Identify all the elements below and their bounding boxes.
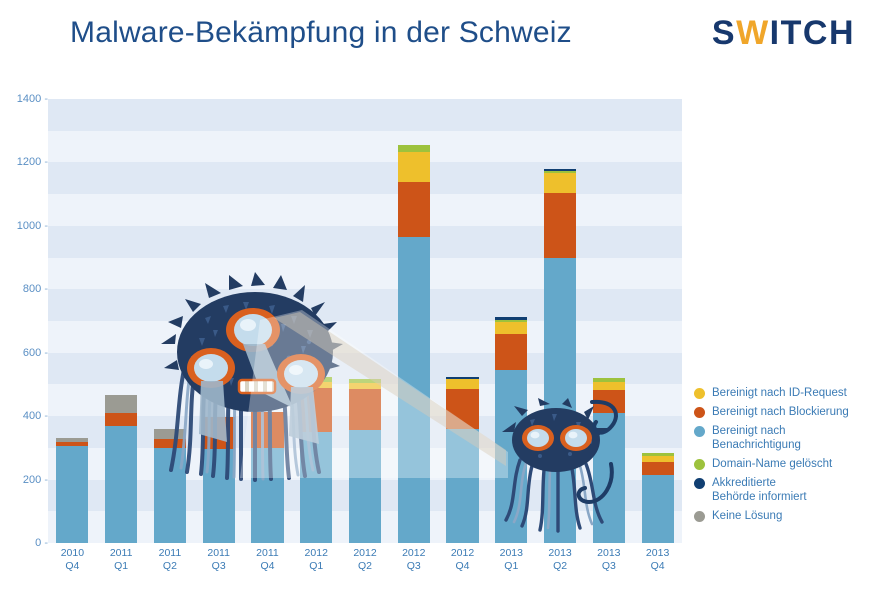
logo-text-v: W [736,14,770,53]
y-axis-tick: 600 - [2,347,48,359]
x-axis-label: 2012Q4 [438,547,487,573]
logo-text-suffix: ITCH [770,14,855,53]
bar-segment [642,475,674,543]
bar-segment [495,370,527,543]
legend-label: Akkreditierte Behörde informiert [712,476,807,504]
legend-item-3[interactable]: Domain-Name gelöscht [694,457,872,471]
y-axis-tick: 0 - [2,537,48,549]
tentacle-curl-upper [588,398,628,442]
legend-item-1[interactable]: Bereinigt nach Blockierung [694,405,872,419]
bar-segment [300,388,332,432]
switch-logo: SWITCH [712,14,855,53]
chart-legend: Bereinigt nach ID-RequestBereinigt nach … [694,386,872,528]
bar-segment [495,334,527,370]
bar-2013-q2[interactable] [544,99,576,543]
bar-segment [446,429,478,543]
bar-segment [349,383,381,389]
legend-label: Bereinigt nach Benachrichtigung [712,424,801,452]
x-axis-label: 2013Q2 [536,547,585,573]
bar-segment [544,171,576,174]
bar-segment [349,379,381,383]
bar-segment [544,173,576,193]
bar-segment [593,382,625,390]
bar-segment [398,182,430,237]
x-axis-label: 2012Q3 [389,547,438,573]
y-axis-tick: 800 - [2,283,48,295]
y-axis-tick: 1400 - [2,93,48,105]
bar-2011-q2[interactable] [154,99,186,543]
bar-segment [446,379,478,389]
bar-segment [642,453,674,456]
bar-segment [544,258,576,543]
x-axis-label: 2011Q2 [146,547,195,573]
bar-segment [251,412,283,448]
y-axis-tick: 400 - [2,410,48,422]
bar-segment [300,377,332,382]
bar-2011-q4[interactable] [251,99,283,543]
y-axis-tick: 1000 - [2,220,48,232]
bar-segment [154,429,186,439]
tentacle-curl-lower [575,462,620,512]
x-axis-label: 2013Q3 [584,547,633,573]
legend-label: Bereinigt nach Blockierung [712,405,849,419]
x-axis-label: 2012Q1 [292,547,341,573]
legend-color-swatch-icon [694,459,705,470]
x-axis-label: 2013Q4 [633,547,682,573]
bar-segment [544,193,576,258]
bar-2012-q4[interactable] [446,99,478,543]
x-axis-label: 2011Q1 [97,547,146,573]
bar-segment [593,378,625,382]
bar-2011-q3[interactable] [203,99,235,543]
bar-segment [495,317,527,320]
x-axis-label: 2011Q3 [194,547,243,573]
bar-2011-q1[interactable] [105,99,137,543]
bar-segment [154,448,186,543]
bar-segment [203,417,235,449]
bar-2012-q1[interactable] [300,99,332,543]
bar-segment [251,448,283,543]
bar-segment [398,152,430,182]
bar-segment [349,389,381,430]
bar-segment [349,430,381,543]
bar-segment [105,413,137,426]
bar-segment [56,442,88,446]
x-axis: 2010Q42011Q12011Q22011Q32011Q42012Q12012… [48,545,682,589]
legend-item-2[interactable]: Bereinigt nach Benachrichtigung [694,424,872,452]
bar-segment [56,438,88,443]
legend-item-0[interactable]: Bereinigt nach ID-Request [694,386,872,400]
legend-color-swatch-icon [694,426,705,437]
y-axis-tick: 1200 - [2,156,48,168]
y-axis: 0 -200 -400 -600 -800 -1000 -1200 -1400 … [0,99,48,543]
bar-segment [203,449,235,544]
x-axis-label: 2010Q4 [48,547,97,573]
bar-segment [154,439,186,448]
x-axis-label: 2011Q4 [243,547,292,573]
bar-segment [300,382,332,388]
bar-2012-q3[interactable] [398,99,430,543]
bar-segment [495,322,527,334]
legend-item-4[interactable]: Akkreditierte Behörde informiert [694,476,872,504]
x-axis-label: 2012Q2 [341,547,390,573]
bar-segment [446,377,478,379]
bar-segment [398,237,430,543]
legend-label: Bereinigt nach ID-Request [712,386,847,400]
legend-color-swatch-icon [694,407,705,418]
x-axis-label: 2013Q1 [487,547,536,573]
bar-segment [56,446,88,543]
bar-segment [300,432,332,543]
bar-2013-q1[interactable] [495,99,527,543]
logo-text-prefix: S [712,14,736,53]
bar-segment [398,145,430,152]
bar-segment [495,320,527,322]
legend-label: Keine Lösung [712,509,782,523]
bar-segment [642,462,674,475]
bar-segment [446,389,478,429]
bar-segment [544,169,576,171]
bar-segment [105,395,137,413]
bar-2013-q4[interactable] [642,99,674,543]
bar-2010-q4[interactable] [56,99,88,543]
bar-2012-q2[interactable] [349,99,381,543]
legend-color-swatch-icon [694,511,705,522]
y-axis-tick: 200 - [2,474,48,486]
legend-item-5[interactable]: Keine Lösung [694,509,872,523]
page-title: Malware-Bekämpfung in der Schweiz [70,16,572,50]
legend-color-swatch-icon [694,388,705,399]
legend-color-swatch-icon [694,478,705,489]
bar-segment [105,426,137,543]
legend-label: Domain-Name gelöscht [712,457,832,471]
bar-segment [642,456,674,462]
